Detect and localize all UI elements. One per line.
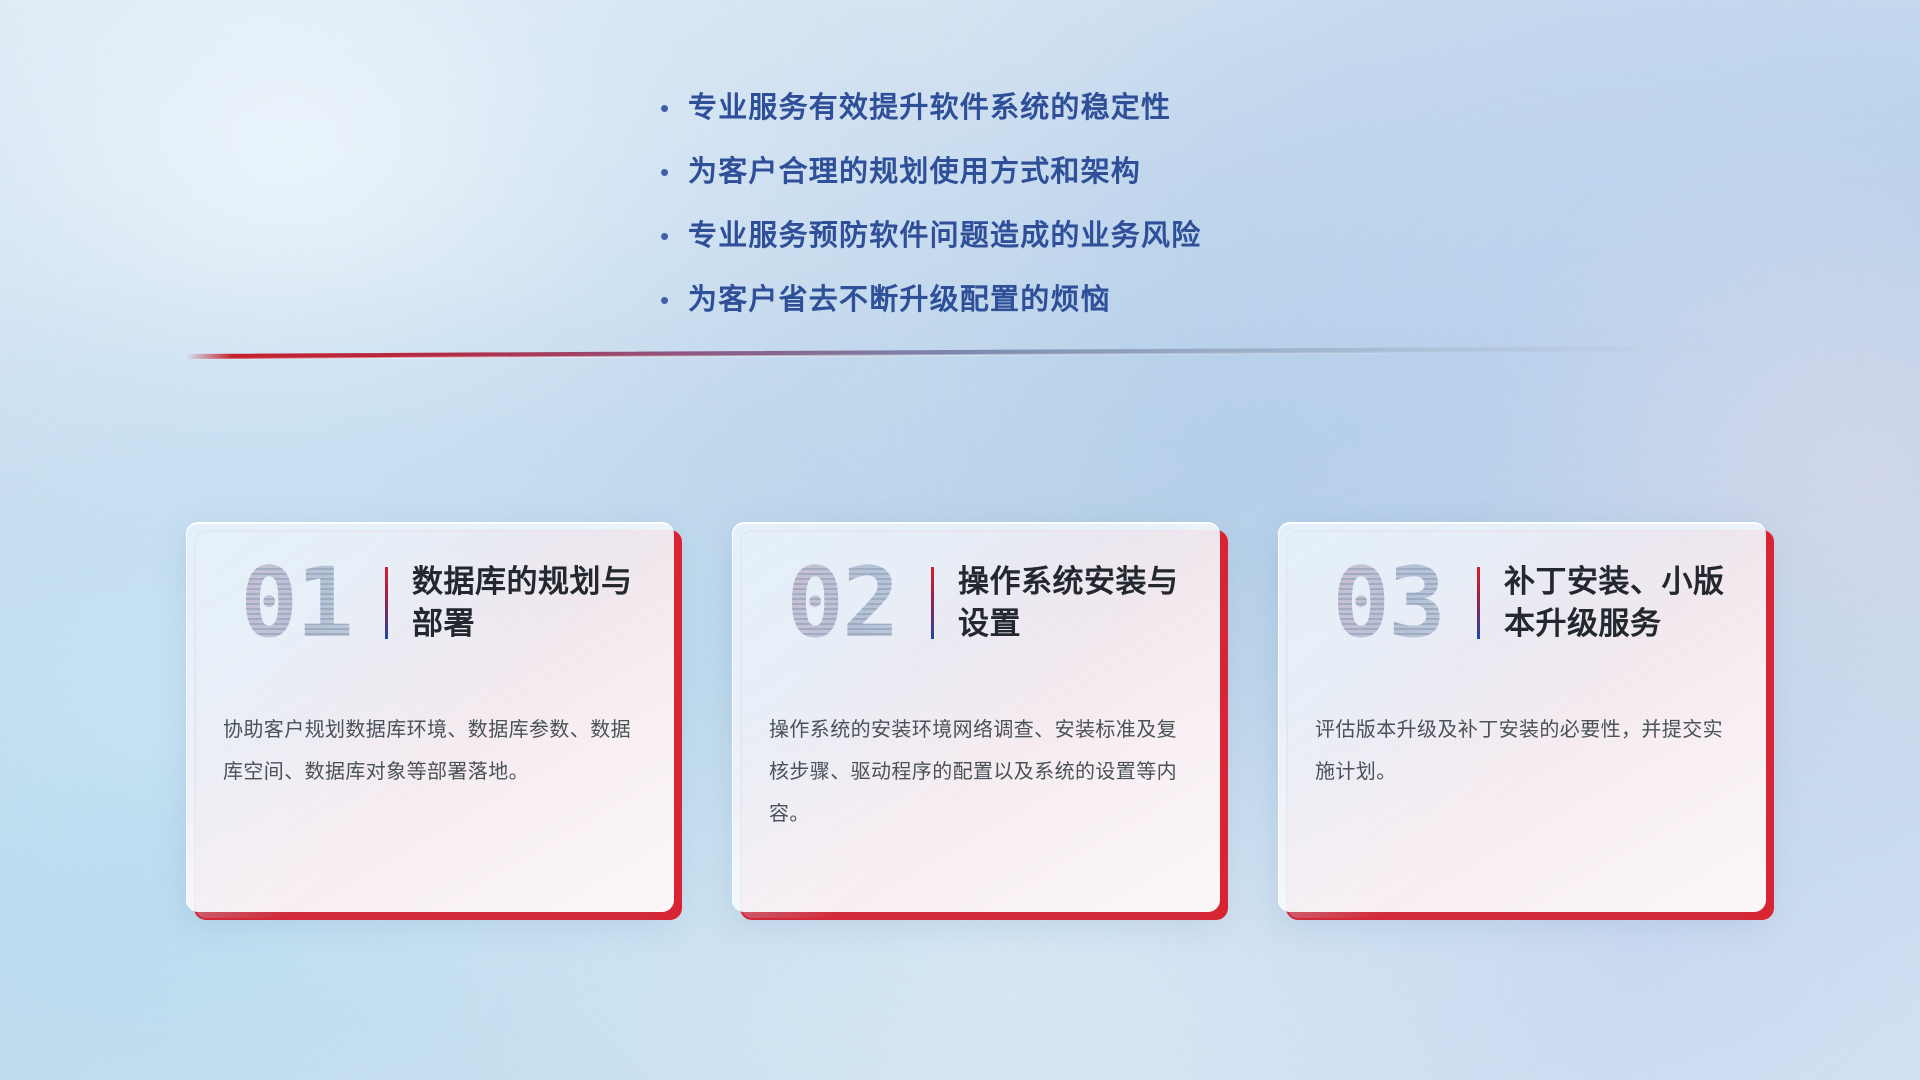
- card-body-text: 评估版本升级及补丁安装的必要性，并提交实施计划。: [1315, 709, 1732, 793]
- section-divider: [186, 346, 1746, 368]
- list-item: • 为客户合理的规划使用方式和架构: [660, 150, 1560, 214]
- card-body-text: 协助客户规划数据库环境、数据库参数、数据库空间、数据库对象等部署落地。: [223, 709, 640, 793]
- card-number: 02 02: [753, 543, 931, 663]
- card-number-striped: 03: [1299, 543, 1477, 663]
- bullet-dot-icon: •: [660, 86, 688, 130]
- card-number-striped: 02: [753, 543, 931, 663]
- bullet-dot-icon: •: [660, 278, 688, 322]
- bullet-dot-icon: •: [660, 214, 688, 258]
- card-divider-rule: [931, 567, 934, 639]
- bullet-text: 专业服务有效提升软件系统的稳定性: [688, 86, 1171, 130]
- card-header: 01 01 数据库的规划与部署: [187, 523, 674, 683]
- card-body-text: 操作系统的安装环境网络调查、安装标准及复核步骤、驱动程序的配置以及系统的设置等内…: [769, 709, 1186, 835]
- card-surface: 03 03 补丁安装、小版本升级服务 评估版本升级及补丁安装的必要性，并提交实施…: [1278, 522, 1766, 912]
- card-divider-rule: [385, 567, 388, 639]
- bullet-text: 为客户省去不断升级配置的烦恼: [688, 278, 1111, 322]
- card-divider-rule: [1477, 567, 1480, 639]
- bullet-text: 为客户合理的规划使用方式和架构: [688, 150, 1141, 194]
- list-item: • 专业服务有效提升软件系统的稳定性: [660, 86, 1560, 150]
- card-title: 数据库的规划与部署: [412, 561, 674, 645]
- card-surface: 01 01 数据库的规划与部署 协助客户规划数据库环境、数据库参数、数据库空间、…: [186, 522, 674, 912]
- service-card-01[interactable]: 01 01 数据库的规划与部署 协助客户规划数据库环境、数据库参数、数据库空间、…: [186, 522, 674, 912]
- card-number-striped: 01: [207, 543, 385, 663]
- bullet-text: 专业服务预防软件问题造成的业务风险: [688, 214, 1201, 258]
- service-card-02[interactable]: 02 02 操作系统安装与设置 操作系统的安装环境网络调查、安装标准及复核步骤、…: [732, 522, 1220, 912]
- card-surface: 02 02 操作系统安装与设置 操作系统的安装环境网络调查、安装标准及复核步骤、…: [732, 522, 1220, 912]
- card-number: 01 01: [207, 543, 385, 663]
- card-header: 03 03 补丁安装、小版本升级服务: [1279, 523, 1766, 683]
- list-item: • 专业服务预防软件问题造成的业务风险: [660, 214, 1560, 278]
- service-card-03[interactable]: 03 03 补丁安装、小版本升级服务 评估版本升级及补丁安装的必要性，并提交实施…: [1278, 522, 1766, 912]
- card-number: 03 03: [1299, 543, 1477, 663]
- card-header: 02 02 操作系统安装与设置: [733, 523, 1220, 683]
- service-card-group: 01 01 数据库的规划与部署 协助客户规划数据库环境、数据库参数、数据库空间、…: [186, 522, 1766, 912]
- bullet-dot-icon: •: [660, 150, 688, 194]
- card-title: 操作系统安装与设置: [958, 561, 1220, 645]
- list-item: • 为客户省去不断升级配置的烦恼: [660, 278, 1560, 342]
- card-title: 补丁安装、小版本升级服务: [1504, 561, 1766, 645]
- benefit-bullet-list: • 专业服务有效提升软件系统的稳定性 • 为客户合理的规划使用方式和架构 • 专…: [660, 86, 1560, 342]
